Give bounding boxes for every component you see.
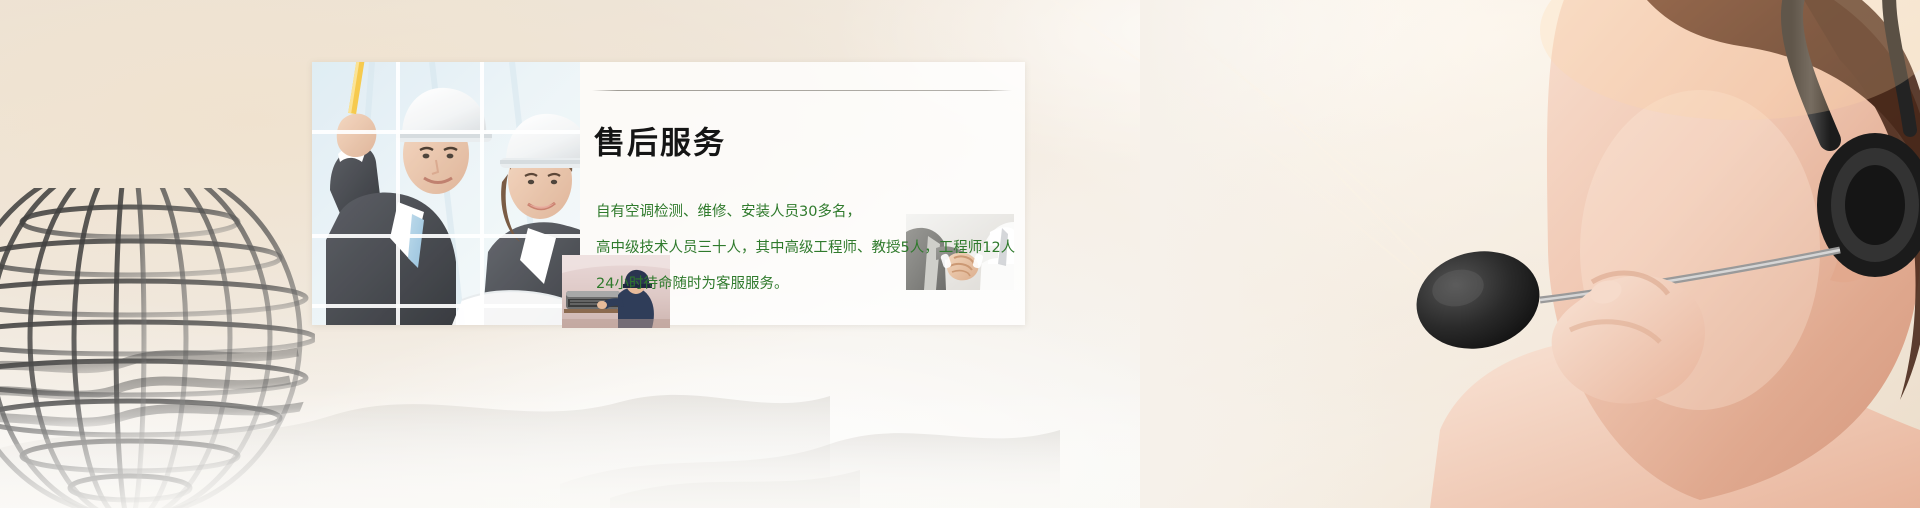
after-sales-service-banner: 售后服务 自有空调检测、维修、安装人员30多名， 高中级技术人员三十人，其中高级…	[0, 0, 1920, 508]
description-line-3: 24小时待命随时为客服服务。	[596, 266, 1014, 302]
service-text-column: 售后服务 自有空调检测、维修、安装人员30多名， 高中级技术人员三十人，其中高级…	[592, 62, 1012, 325]
headset-customer-service-operator-photo	[1140, 0, 1920, 508]
page-title: 售后服务	[594, 118, 726, 163]
description-line-1: 自有空调检测、维修、安装人员30多名，	[596, 194, 1014, 230]
service-description: 自有空调检测、维修、安装人员30多名， 高中级技术人员三十人，其中高级工程师、教…	[596, 194, 1014, 302]
title-divider	[592, 90, 1012, 91]
photo-grid-lines	[312, 62, 580, 325]
engineers-in-hardhats-photo	[312, 62, 580, 325]
description-line-2: 高中级技术人员三十人，其中高级工程师、教授5人，工程师12人	[596, 230, 1014, 266]
